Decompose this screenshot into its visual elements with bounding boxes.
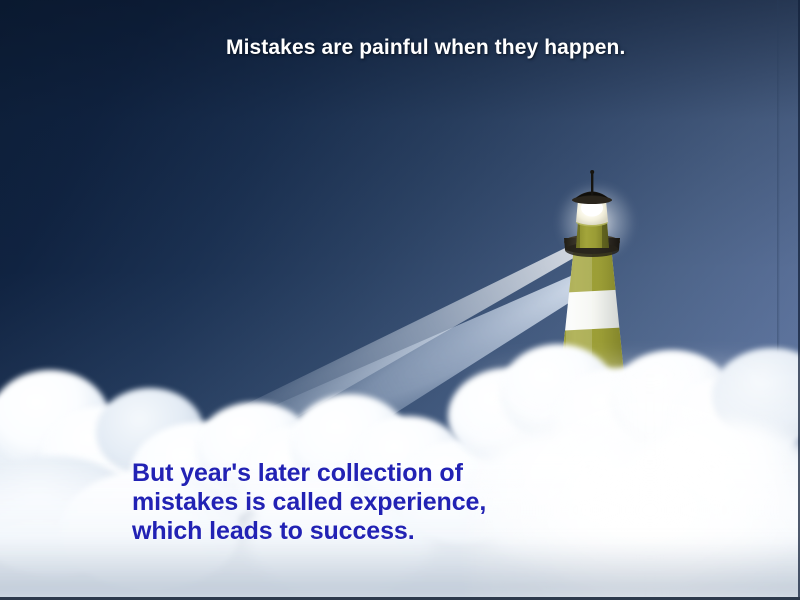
bottom-quote-line-3: which leads to success. [132, 517, 486, 546]
bottom-quote-line-2: mistakes is called experience, [132, 488, 486, 517]
lamp-halo-glow [556, 182, 636, 262]
top-quote-text: Mistakes are painful when they happen. [226, 36, 625, 60]
bottom-quote-line-1: But year's later collection of [132, 459, 486, 488]
cloud-bottom-shading [0, 540, 800, 600]
quote-poster-scene: Mistakes are painful when they happen. B… [0, 0, 800, 600]
bottom-quote-text: But year's later collection of mistakes … [132, 459, 486, 546]
